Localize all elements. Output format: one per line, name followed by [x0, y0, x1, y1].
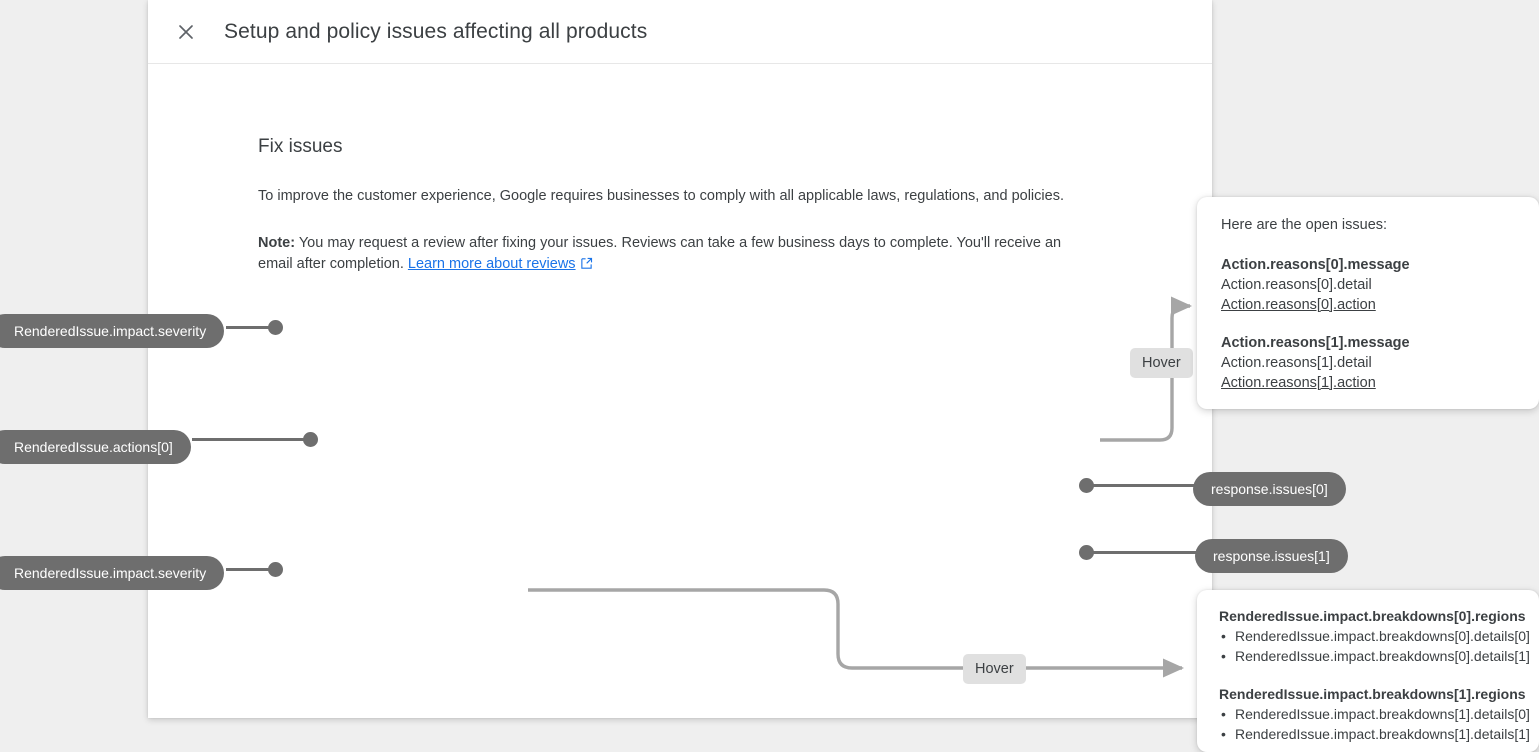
breakdown-details-list: RenderedIssue.impact.breakdowns[0].detai… — [1219, 626, 1517, 666]
pill-connector-line — [192, 438, 317, 441]
issues-dialog: Setup and policy issues affecting all pr… — [148, 0, 1212, 718]
breakdowns-tooltip: RenderedIssue.impact.breakdowns[0].regio… — [1197, 590, 1539, 752]
breakdown-regions: RenderedIssue.impact.breakdowns[1].regio… — [1219, 684, 1517, 704]
list-item: RenderedIssue.impact.breakdowns[1].detai… — [1219, 704, 1517, 724]
reason-action-link[interactable]: Action.reasons[0].action — [1221, 295, 1515, 315]
dialog-header: Setup and policy issues affecting all pr… — [148, 0, 1212, 64]
close-icon[interactable] — [168, 14, 204, 50]
pill-connector-line — [1088, 484, 1203, 487]
breakdown-details-list: RenderedIssue.impact.breakdowns[1].detai… — [1219, 704, 1517, 744]
note-paragraph: Note: You may request a review after fix… — [258, 233, 1098, 277]
note-label: Note: — [258, 235, 295, 251]
screenshot-root: Setup and policy issues affecting all pr… — [0, 0, 1539, 752]
intro-paragraph: To improve the customer experience, Goog… — [258, 186, 1098, 207]
pill-connector-line — [1088, 551, 1203, 554]
pill-connector-dot — [1079, 545, 1094, 560]
list-item: RenderedIssue.impact.breakdowns[0].detai… — [1219, 626, 1517, 646]
annotation-pill-severity-1: RenderedIssue.impact.severity — [0, 556, 224, 590]
pill-connector-dot — [268, 320, 283, 335]
reason-detail: Action.reasons[0].detail — [1221, 275, 1515, 295]
pill-connector-dot — [303, 432, 318, 447]
annotation-pill-severity-0: RenderedIssue.impact.severity — [0, 314, 224, 348]
reason-message: Action.reasons[1].message — [1221, 333, 1515, 353]
hover-badge: Hover — [963, 654, 1026, 684]
hover-badge: Hover — [1130, 348, 1193, 378]
tooltip-lead: Here are the open issues: — [1221, 217, 1515, 233]
reason-group: Action.reasons[1].message Action.reasons… — [1221, 333, 1515, 393]
reason-detail: Action.reasons[1].detail — [1221, 353, 1515, 373]
page-title: Fix issues — [258, 136, 1212, 158]
annotation-pill-actions-0: RenderedIssue.actions[0] — [0, 430, 191, 464]
note-text: You may request a review after fixing yo… — [258, 235, 1061, 272]
breakdown-group: RenderedIssue.impact.breakdowns[1].regio… — [1219, 684, 1517, 744]
external-link-icon — [580, 256, 593, 277]
annotation-pill-response-issues-1: response.issues[1] — [1195, 539, 1348, 573]
breakdown-regions: RenderedIssue.impact.breakdowns[0].regio… — [1219, 606, 1517, 626]
dialog-title: Setup and policy issues affecting all pr… — [224, 20, 647, 44]
reason-group: Action.reasons[0].message Action.reasons… — [1221, 255, 1515, 315]
pill-connector-dot — [1079, 478, 1094, 493]
dialog-body: Fix issues To improve the customer exper… — [148, 64, 1212, 277]
breakdown-group: RenderedIssue.impact.breakdowns[0].regio… — [1219, 606, 1517, 666]
learn-more-link[interactable]: Learn more about reviews — [408, 256, 576, 272]
annotation-pill-response-issues-0: response.issues[0] — [1193, 472, 1346, 506]
reason-action-link[interactable]: Action.reasons[1].action — [1221, 373, 1515, 393]
list-item: RenderedIssue.impact.breakdowns[1].detai… — [1219, 724, 1517, 744]
list-item: RenderedIssue.impact.breakdowns[0].detai… — [1219, 646, 1517, 666]
reasons-tooltip: Here are the open issues: Action.reasons… — [1197, 197, 1539, 409]
pill-connector-dot — [268, 562, 283, 577]
reason-message: Action.reasons[0].message — [1221, 255, 1515, 275]
